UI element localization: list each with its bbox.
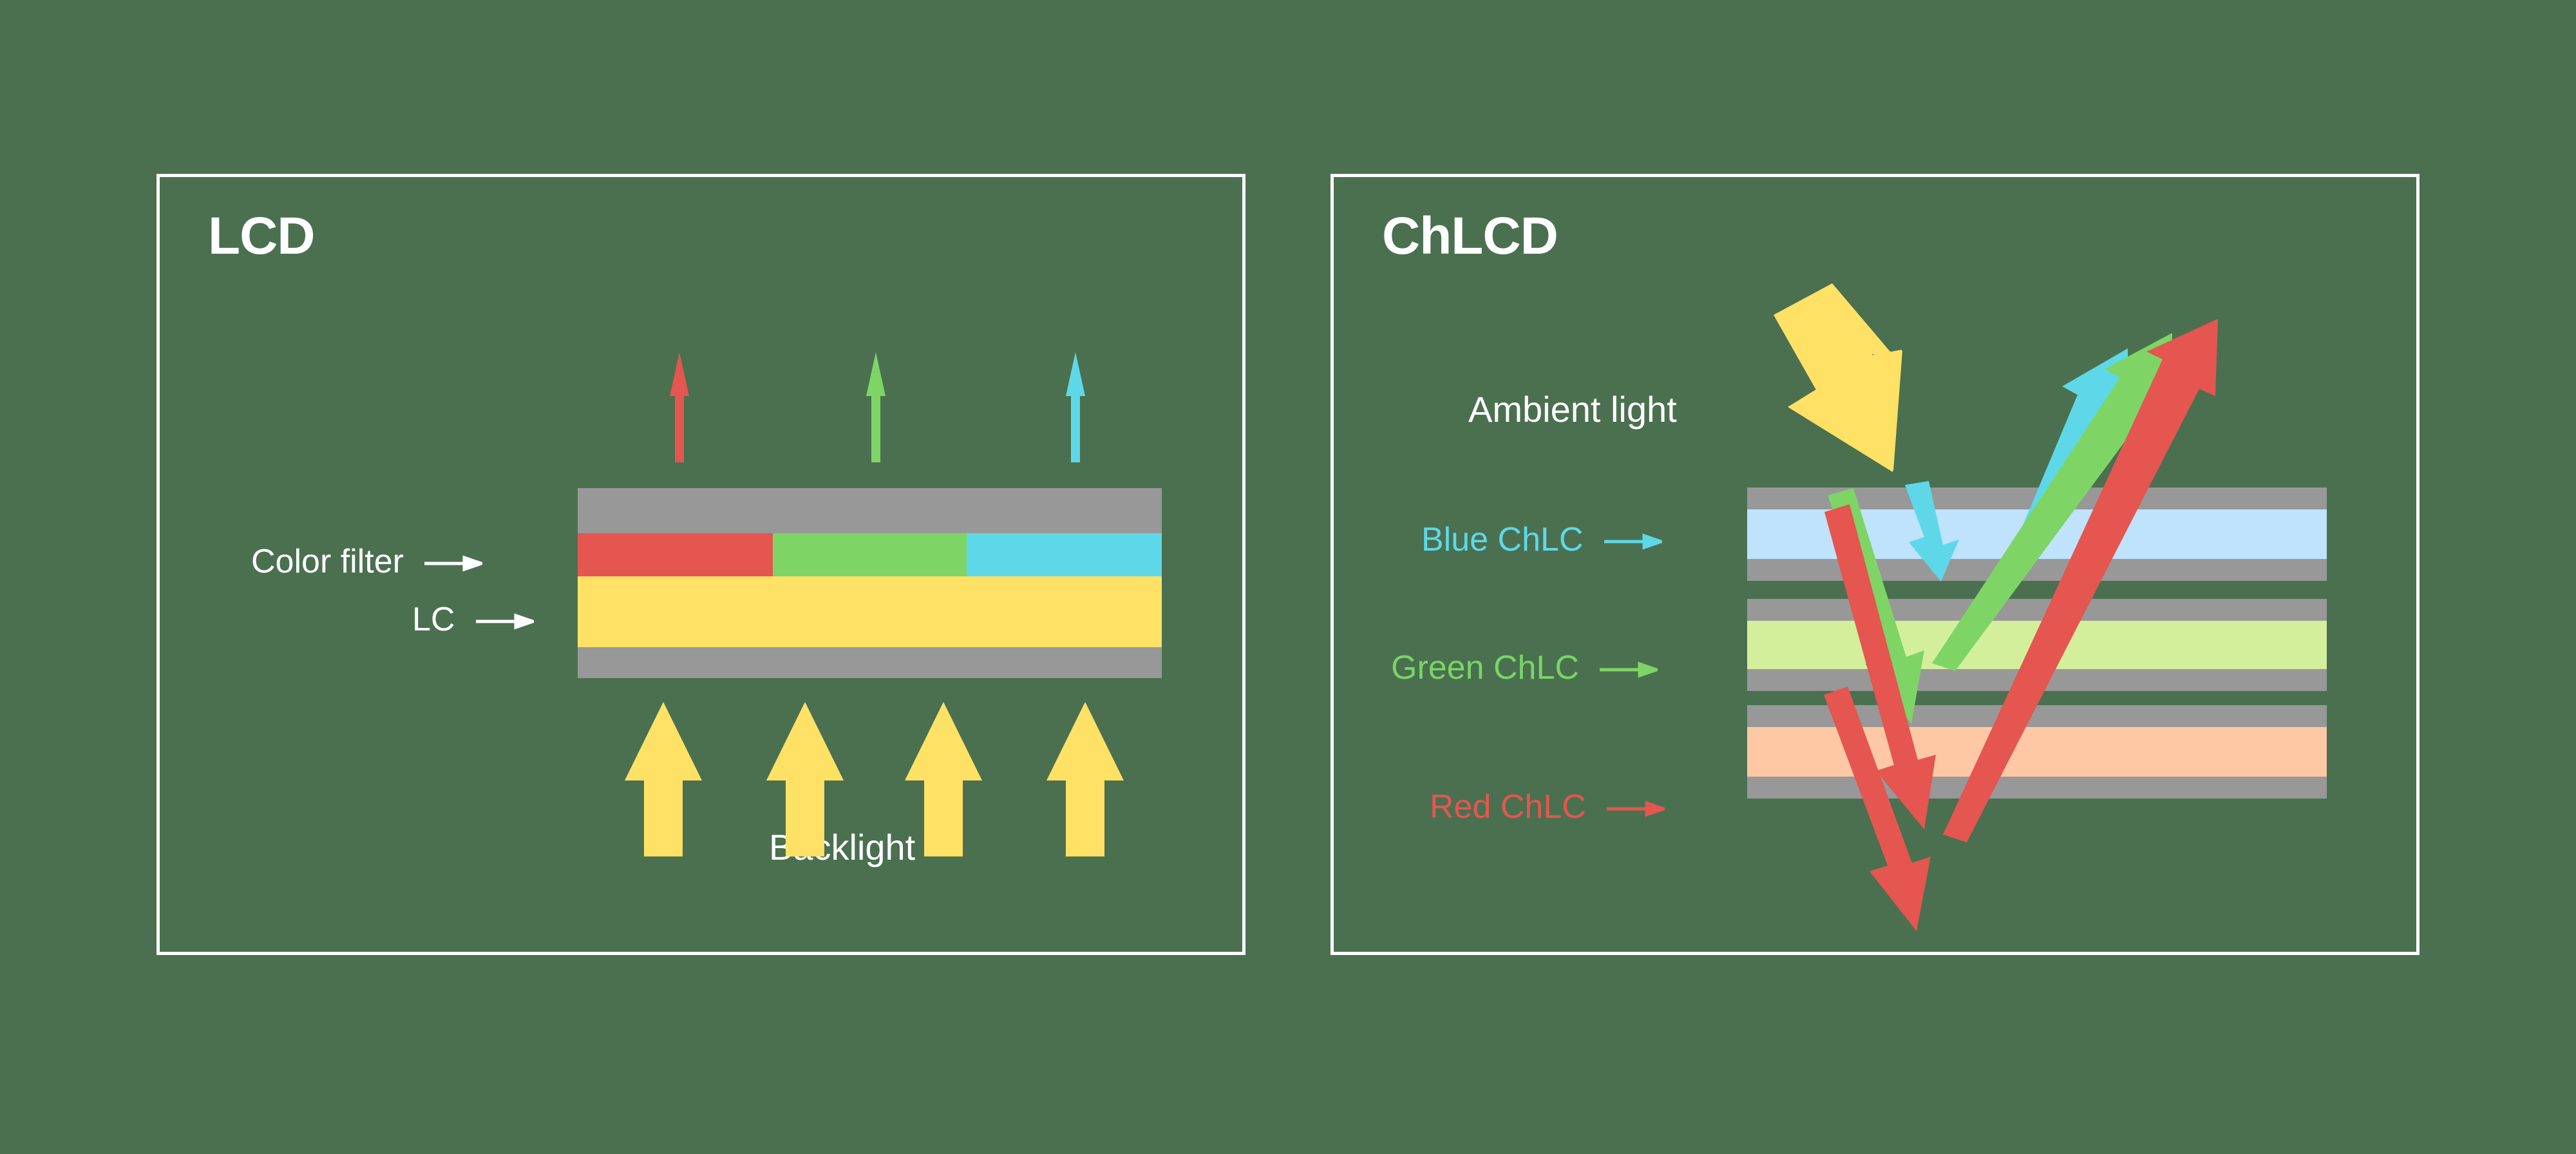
label-blue-chlc-text: Blue ChLC — [1421, 521, 1583, 558]
blue-cell-bottom-glass — [1747, 559, 2327, 581]
blue-chlc-layer — [1747, 509, 2327, 559]
label-ambient-light: Ambient light — [1468, 392, 1677, 428]
chlcd-green-cell — [1747, 599, 2327, 691]
chlcd-blue-cell — [1747, 487, 2327, 581]
pointer-right-icon — [1600, 661, 1658, 678]
label-color-filter: Color filter — [251, 545, 482, 578]
lcd-top-glass-layer — [578, 488, 1162, 533]
color-filter-blue-segment — [967, 533, 1162, 576]
green-cell-bottom-glass — [1747, 669, 2327, 691]
lcd-color-filter-layer — [578, 533, 1162, 576]
red-chlc-layer — [1747, 727, 2327, 777]
green-chlc-layer — [1747, 621, 2327, 669]
pointer-right-icon — [476, 613, 534, 630]
color-filter-green-segment — [773, 533, 967, 576]
lcd-bottom-glass-layer — [578, 647, 1162, 678]
red-cell-bottom-glass — [1747, 777, 2327, 799]
pointer-right-icon — [1604, 533, 1662, 550]
label-red-chlc-text: Red ChLC — [1430, 788, 1586, 826]
chlcd-red-cell — [1747, 705, 2327, 799]
label-lc: LC — [412, 603, 534, 636]
label-blue-chlc: Blue ChLC — [1421, 523, 1662, 556]
lcd-layer-stack — [578, 488, 1162, 678]
label-green-chlc-text: Green ChLC — [1391, 649, 1579, 686]
lcd-liquid-crystal-layer — [578, 576, 1162, 647]
label-lc-text: LC — [412, 601, 455, 638]
pointer-right-icon — [1607, 800, 1665, 817]
label-color-filter-text: Color filter — [251, 543, 404, 580]
pointer-right-icon — [424, 555, 482, 572]
diagram-canvas: LCD Color filter LC Backlight ChLCD — [0, 0, 2576, 1154]
color-filter-red-segment — [578, 533, 773, 576]
chlcd-layer-stack — [1747, 487, 2327, 799]
panel-title-chlcd: ChLCD — [1382, 206, 1558, 267]
label-backlight: Backlight — [769, 829, 915, 865]
red-cell-top-glass — [1747, 705, 2327, 727]
green-cell-top-glass — [1747, 599, 2327, 621]
label-green-chlc: Green ChLC — [1391, 651, 1658, 685]
panel-title-lcd: LCD — [208, 206, 315, 267]
label-red-chlc: Red ChLC — [1430, 790, 1665, 824]
blue-cell-top-glass — [1747, 487, 2327, 509]
